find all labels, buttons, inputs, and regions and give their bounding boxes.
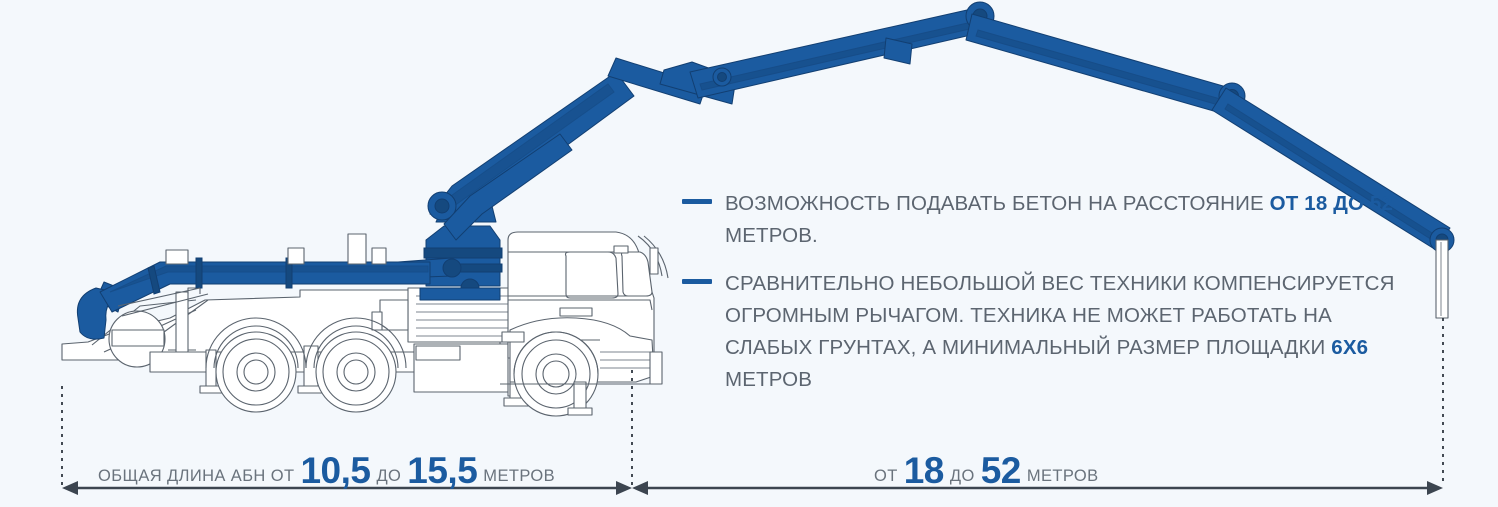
truck-cab bbox=[500, 232, 668, 416]
dim-right-min: 18 bbox=[904, 450, 944, 492]
infographic-canvas: .bm{fill:#1b5ba0;stroke:#123f72;stroke-w… bbox=[0, 0, 1498, 507]
dash-marker-icon bbox=[682, 279, 712, 284]
dim-right-prefix: ОТ bbox=[874, 467, 898, 486]
list-item: ВОЗМОЖНОСТЬ ПОДАВАТЬ БЕТОН НА РАССТОЯНИЕ… bbox=[682, 188, 1402, 252]
truck-body bbox=[62, 288, 564, 410]
dim-left-prefix: ОБЩАЯ ДЛИНА АБН ОТ bbox=[98, 467, 294, 486]
dim-left-suffix: МЕТРОВ bbox=[483, 467, 555, 486]
dim-right-mid: ДО bbox=[950, 467, 975, 486]
dash-marker-icon bbox=[682, 199, 712, 204]
dim-left-min: 10,5 bbox=[300, 450, 370, 492]
dim-left-max: 15,5 bbox=[407, 450, 477, 492]
dimension-label-boom-reach: ОТ 18 ДО 52 МЕТРОВ bbox=[874, 448, 1099, 490]
bullet-text-weight-ground: СРАВНИТЕЛЬНО НЕБОЛЬШОЙ ВЕС ТЕХНИКИ КОМПЕ… bbox=[725, 268, 1402, 396]
dim-left-mid: ДО bbox=[376, 467, 401, 486]
feature-bullet-list: ВОЗМОЖНОСТЬ ПОДАВАТЬ БЕТОН НА РАССТОЯНИЕ… bbox=[682, 188, 1402, 412]
dimension-label-overall-length: ОБЩАЯ ДЛИНА АБН ОТ 10,5 ДО 15,5 МЕТРОВ bbox=[98, 448, 555, 490]
dim-right-suffix: МЕТРОВ bbox=[1027, 467, 1099, 486]
dim-right-max: 52 bbox=[981, 450, 1021, 492]
delivery-hose bbox=[1436, 240, 1448, 318]
list-item: СРАВНИТЕЛЬНО НЕБОЛЬШОЙ ВЕС ТЕХНИКИ КОМПЕ… bbox=[682, 268, 1402, 396]
bullet-text-reach: ВОЗМОЖНОСТЬ ПОДАВАТЬ БЕТОН НА РАССТОЯНИЕ… bbox=[725, 188, 1402, 252]
